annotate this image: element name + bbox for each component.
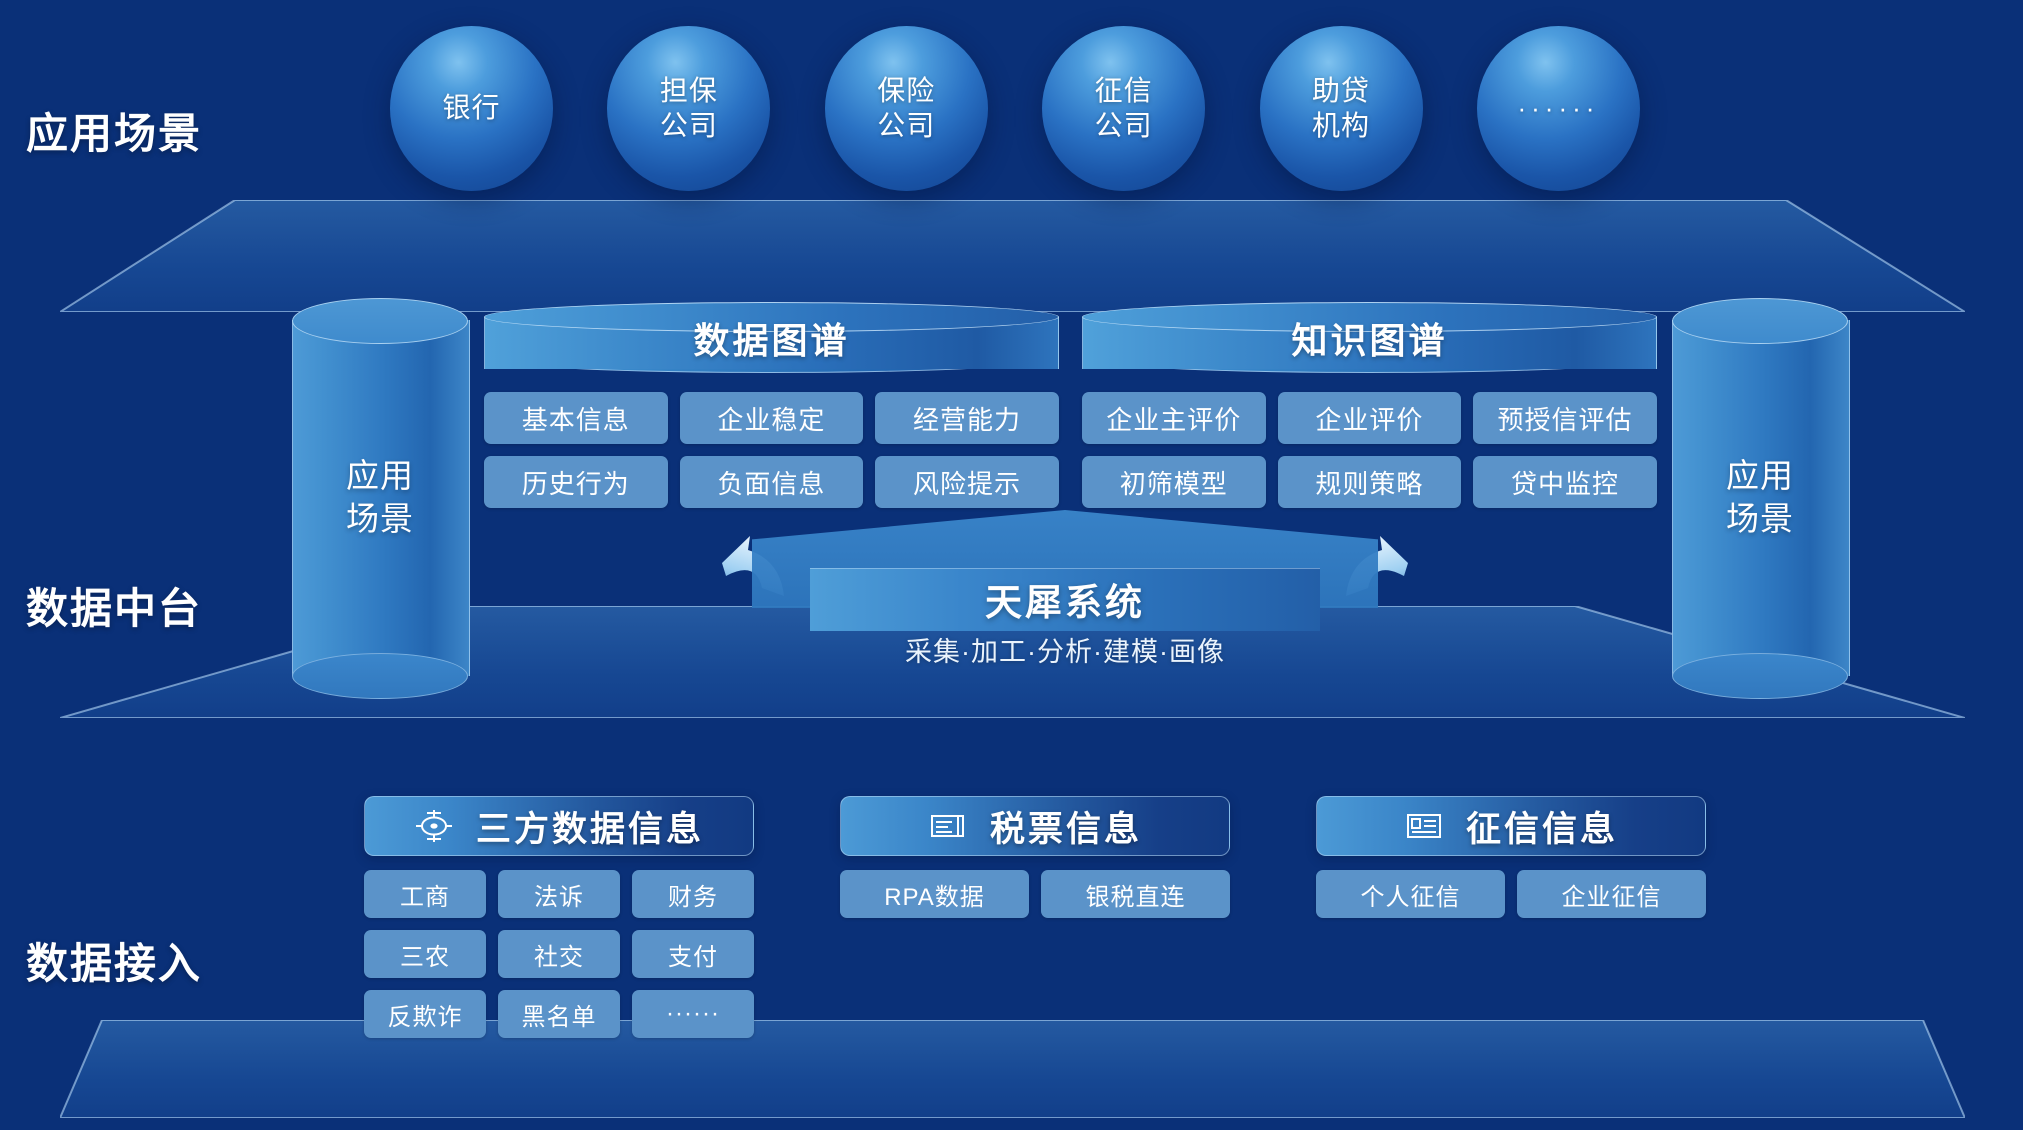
data-graph-tag-grid: 基本信息 企业稳定 经营能力 历史行为 负面信息 风险提示: [484, 392, 1059, 508]
knowledge-graph-tag[interactable]: 企业主评价: [1082, 392, 1266, 444]
cylinder-label: 应用 场景: [292, 298, 468, 698]
tax-invoice-header[interactable]: 税票信息: [840, 796, 1230, 856]
tianxi-system-banner[interactable]: 天犀系统: [810, 540, 1320, 608]
id-card-icon: [1404, 806, 1444, 846]
data-graph-title: 数据图谱: [484, 310, 1059, 366]
knowledge-graph-tag-grid: 企业主评价 企业评价 预授信评估 初筛模型 规则策略 贷中监控: [1082, 392, 1657, 508]
credit-report-title: 征信信息: [1466, 801, 1618, 852]
third-party-tag[interactable]: 法诉: [498, 870, 620, 918]
data-graph-tag[interactable]: 基本信息: [484, 392, 668, 444]
third-party-tag[interactable]: 社交: [498, 930, 620, 978]
credit-report-tag[interactable]: 个人征信: [1316, 870, 1505, 918]
scenario-sphere-loan-agency[interactable]: 助贷 机构: [1260, 26, 1423, 191]
tax-invoice-tag-grid: RPA数据 银税直连: [840, 870, 1230, 918]
data-graph-tag[interactable]: 历史行为: [484, 456, 668, 508]
tianxi-system-subtitle: 采集·加工·分析·建模·画像: [810, 630, 1320, 669]
tianxi-system-title: 天犀系统: [810, 568, 1320, 630]
knowledge-graph-tag[interactable]: 初筛模型: [1082, 456, 1266, 508]
scenario-label: 担保 公司: [660, 74, 718, 142]
credit-report-tag-grid: 个人征信 企业征信: [1316, 870, 1706, 918]
data-access-plane: [60, 1020, 1965, 1118]
scenario-label: 征信 公司: [1095, 74, 1153, 142]
tax-invoice-title: 税票信息: [990, 801, 1142, 852]
data-graph-tag[interactable]: 经营能力: [875, 392, 1059, 444]
third-party-tag[interactable]: 三农: [364, 930, 486, 978]
scenario-sphere-row: 银行 担保 公司 保险 公司 征信 公司 助贷 机构 ······: [390, 26, 1640, 191]
tax-invoice-data-group: 税票信息 RPA数据 银税直连: [840, 796, 1230, 918]
section-label-data-platform: 数据中台: [26, 575, 202, 636]
knowledge-graph-tag[interactable]: 贷中监控: [1473, 456, 1657, 508]
invoice-icon: [928, 806, 968, 846]
scenario-label: 助贷 机构: [1312, 74, 1370, 142]
third-party-tag[interactable]: 反欺诈: [364, 990, 486, 1038]
third-party-data-header[interactable]: 三方数据信息: [364, 796, 754, 856]
data-graph-tag[interactable]: 企业稳定: [680, 392, 864, 444]
left-application-scene-cylinder: 应用 场景: [292, 298, 468, 698]
scenario-sphere-bank[interactable]: 银行: [390, 26, 553, 191]
knowledge-graph-title: 知识图谱: [1082, 310, 1657, 366]
scenario-sphere-insurance[interactable]: 保险 公司: [825, 26, 988, 191]
third-party-tag-ellipsis[interactable]: ······: [632, 990, 754, 1038]
tax-invoice-tag[interactable]: 银税直连: [1041, 870, 1230, 918]
third-party-data-title: 三方数据信息: [476, 801, 704, 852]
third-party-tag[interactable]: 支付: [632, 930, 754, 978]
credit-report-header[interactable]: 征信信息: [1316, 796, 1706, 856]
scenario-label: 保险 公司: [877, 74, 935, 142]
data-graph-tag[interactable]: 风险提示: [875, 456, 1059, 508]
scenario-sphere-credit-bureau[interactable]: 征信 公司: [1042, 26, 1205, 191]
cylinder-label: 应用 场景: [1672, 298, 1848, 698]
section-label-data-access: 数据接入: [26, 930, 202, 991]
architecture-diagram: 应用场景 数据中台 数据接入 银行 担保 公司 保险 公司 征信 公司 助贷 机…: [0, 0, 2023, 1130]
third-party-tag[interactable]: 黑名单: [498, 990, 620, 1038]
scenario-label-ellipsis: ······: [1517, 93, 1599, 125]
data-graph-disc[interactable]: 数据图谱: [484, 302, 1059, 374]
knowledge-graph-tag[interactable]: 企业评价: [1278, 392, 1462, 444]
credit-report-tag[interactable]: 企业征信: [1517, 870, 1706, 918]
right-application-scene-cylinder: 应用 场景: [1672, 298, 1848, 698]
knowledge-graph-tag[interactable]: 预授信评估: [1473, 392, 1657, 444]
target-crosshair-icon: [414, 806, 454, 846]
credit-report-data-group: 征信信息 个人征信 企业征信: [1316, 796, 1706, 918]
knowledge-graph-disc[interactable]: 知识图谱: [1082, 302, 1657, 374]
application-layer-plane: [60, 200, 1965, 312]
scenario-sphere-more[interactable]: ······: [1477, 26, 1640, 191]
third-party-tag[interactable]: 财务: [632, 870, 754, 918]
third-party-data-tag-grid: 工商 法诉 财务 三农 社交 支付 反欺诈 黑名单 ······: [364, 870, 754, 1038]
third-party-tag[interactable]: 工商: [364, 870, 486, 918]
tax-invoice-tag[interactable]: RPA数据: [840, 870, 1029, 918]
scenario-sphere-guarantee[interactable]: 担保 公司: [607, 26, 770, 191]
data-graph-tag[interactable]: 负面信息: [680, 456, 864, 508]
section-label-application-scene: 应用场景: [26, 100, 202, 161]
scenario-label: 银行: [442, 91, 500, 125]
knowledge-graph-tag[interactable]: 规则策略: [1278, 456, 1462, 508]
third-party-data-group: 三方数据信息 工商 法诉 财务 三农 社交 支付 反欺诈 黑名单 ······: [364, 796, 754, 1038]
